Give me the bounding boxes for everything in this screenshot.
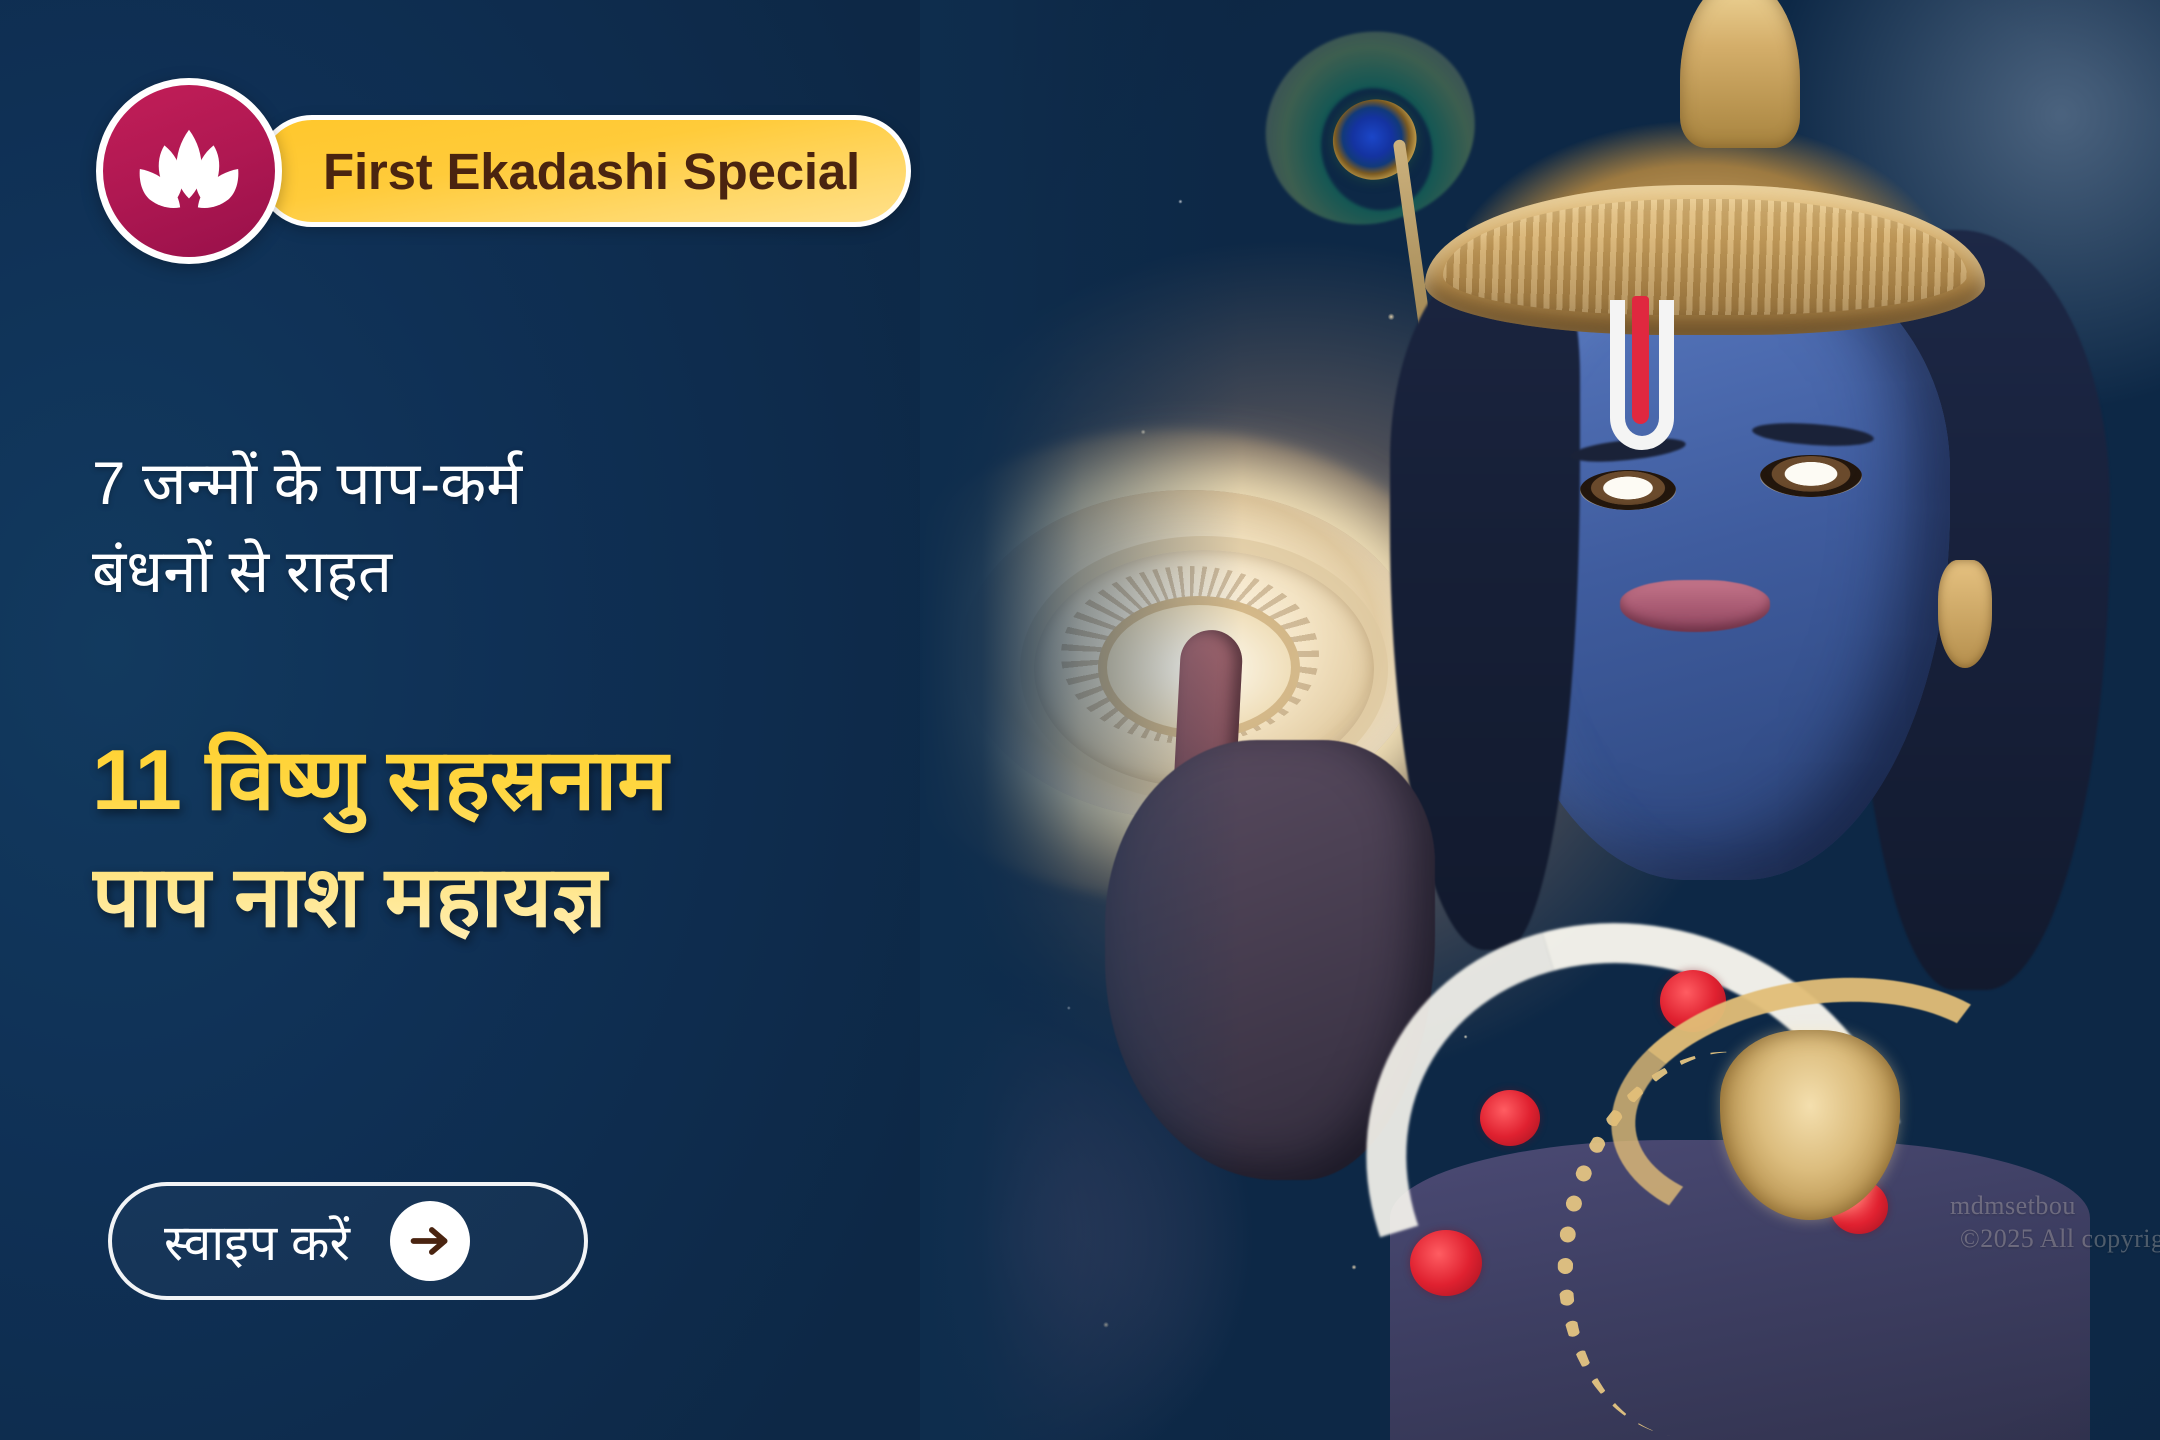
deity-artwork: mdmsetbou ©2025 All copyrights reserved: [920, 0, 2160, 1440]
content-column: First Ekadashi Special 7 जन्मों के पाप-क…: [0, 0, 1100, 1440]
headline-line-2: पाप नाश महायज्ञ: [92, 839, 1092, 956]
copyright-line-1: mdmsetbou: [1950, 1190, 2160, 1223]
copyright-line-2: ©2025 All copyrights reserved: [1960, 1223, 2160, 1256]
badge-pill[interactable]: First Ekadashi Special: [256, 115, 911, 227]
arrow-right-icon[interactable]: [390, 1201, 470, 1281]
swipe-button[interactable]: स्वाइप करें: [108, 1182, 588, 1300]
swipe-button-label: स्वाइप करें: [164, 1207, 350, 1275]
headline-line-1: 11 विष्णु सहस्रनाम: [92, 733, 668, 828]
subheading-line-2: बंधनों से राहत: [92, 528, 992, 616]
badge-label: First Ekadashi Special: [323, 142, 860, 201]
copyright-watermark: mdmsetbou ©2025 All copyrights reserved: [1950, 1190, 2160, 1255]
promo-banner: mdmsetbou ©2025 All copyrights reserved: [0, 0, 2160, 1440]
brand-logo[interactable]: [96, 78, 282, 264]
headline: 11 विष्णु सहस्रनाम पाप नाश महायज्ञ: [92, 722, 1092, 957]
subheading-line-1: 7 जन्मों के पाप-कर्म: [92, 450, 522, 517]
badge-row: First Ekadashi Special: [96, 78, 911, 264]
lotus-icon: [130, 112, 248, 230]
subheading: 7 जन्मों के पाप-कर्म बंधनों से राहत: [92, 440, 992, 615]
